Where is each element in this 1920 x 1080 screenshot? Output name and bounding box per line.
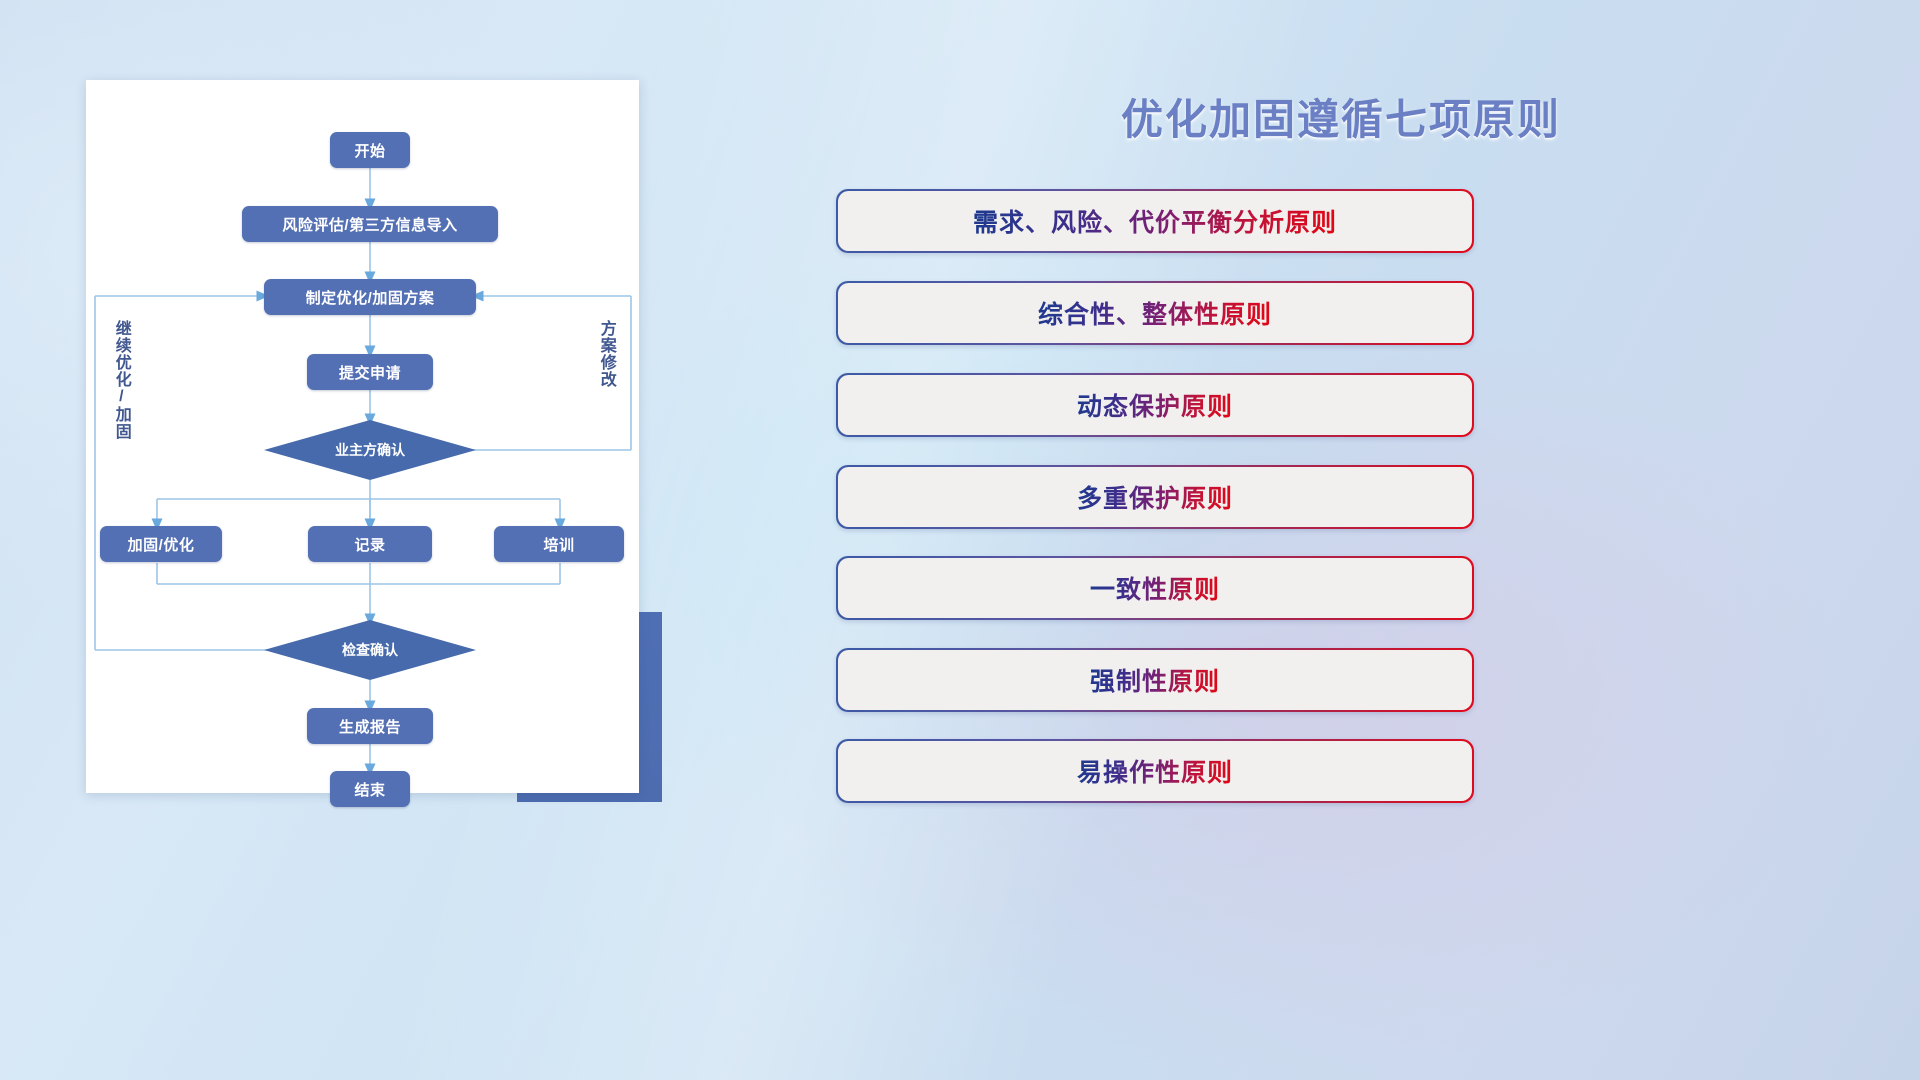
flow-decision-owner-confirm-label: 业主方确认 [335, 440, 405, 460]
principle-item-7-body: 易操作性原则 [838, 741, 1472, 801]
principle-item-4-body: 多重保护原则 [838, 467, 1472, 527]
flow-node-training[interactable]: 培训 [494, 526, 624, 562]
principle-item-6-label: 强制性原则 [1090, 662, 1220, 698]
flow-node-end[interactable]: 结束 [330, 771, 410, 807]
flow-node-submit[interactable]: 提交申请 [307, 354, 433, 390]
principle-item-3[interactable]: 动态保护原则 [836, 373, 1474, 437]
slide-background: 开始 风险评估/第三方信息导入 制定优化/加固方案 提交申请 业主方确认 加固/… [0, 0, 1920, 1080]
flow-node-generate-report-label: 生成报告 [339, 716, 401, 737]
principle-item-1[interactable]: 需求、风险、代价平衡分析原则 [836, 189, 1474, 253]
principle-item-4[interactable]: 多重保护原则 [836, 465, 1474, 529]
flowchart-card: 开始 风险评估/第三方信息导入 制定优化/加固方案 提交申请 业主方确认 加固/… [86, 80, 639, 793]
flow-decision-inspection-label: 检查确认 [342, 640, 398, 660]
flow-node-risk-assessment-label: 风险评估/第三方信息导入 [282, 214, 457, 235]
flow-decision-inspection[interactable]: 检查确认 [264, 620, 476, 680]
flow-node-start-label: 开始 [354, 140, 385, 161]
edge-label-continue-optimize: 继续优化/加固 [112, 320, 129, 440]
principle-item-1-body: 需求、风险、代价平衡分析原则 [838, 191, 1472, 251]
flow-node-reinforce-label: 加固/优化 [128, 534, 195, 555]
flow-node-record-label: 记录 [354, 534, 385, 555]
principle-item-2-body: 综合性、整体性原则 [838, 283, 1472, 343]
principle-item-1-label: 需求、风险、代价平衡分析原则 [973, 203, 1337, 239]
principle-item-6-body: 强制性原则 [838, 650, 1472, 710]
flow-node-record[interactable]: 记录 [308, 526, 432, 562]
flow-node-start[interactable]: 开始 [330, 132, 410, 168]
page-title: 优化加固遵循七项原则 [836, 86, 1846, 147]
edge-label-plan-revision: 方案修改 [597, 320, 614, 388]
principle-item-5-label: 一致性原则 [1090, 570, 1220, 606]
flow-node-training-label: 培训 [543, 534, 574, 555]
flow-decision-owner-confirm[interactable]: 业主方确认 [264, 420, 476, 480]
flow-node-end-label: 结束 [354, 779, 385, 800]
principles-panel: 优化加固遵循七项原则 需求、风险、代价平衡分析原则 综合性、整体性原则 动态保护… [836, 76, 1846, 1016]
principle-item-5-body: 一致性原则 [838, 558, 1472, 618]
flow-node-risk-assessment[interactable]: 风险评估/第三方信息导入 [242, 206, 498, 242]
flow-node-generate-report[interactable]: 生成报告 [307, 708, 433, 744]
principle-item-3-label: 动态保护原则 [1077, 387, 1233, 423]
principle-item-7[interactable]: 易操作性原则 [836, 739, 1474, 803]
principle-item-2-label: 综合性、整体性原则 [1038, 295, 1272, 331]
principle-item-4-label: 多重保护原则 [1077, 479, 1233, 515]
principle-item-5[interactable]: 一致性原则 [836, 556, 1474, 620]
flow-node-submit-label: 提交申请 [339, 362, 401, 383]
flow-node-reinforce[interactable]: 加固/优化 [100, 526, 222, 562]
flow-node-plan[interactable]: 制定优化/加固方案 [264, 279, 476, 315]
flow-node-plan-label: 制定优化/加固方案 [306, 287, 435, 308]
principle-item-7-label: 易操作性原则 [1077, 753, 1233, 789]
principle-item-3-body: 动态保护原则 [838, 375, 1472, 435]
principle-item-6[interactable]: 强制性原则 [836, 648, 1474, 712]
principle-item-2[interactable]: 综合性、整体性原则 [836, 281, 1474, 345]
